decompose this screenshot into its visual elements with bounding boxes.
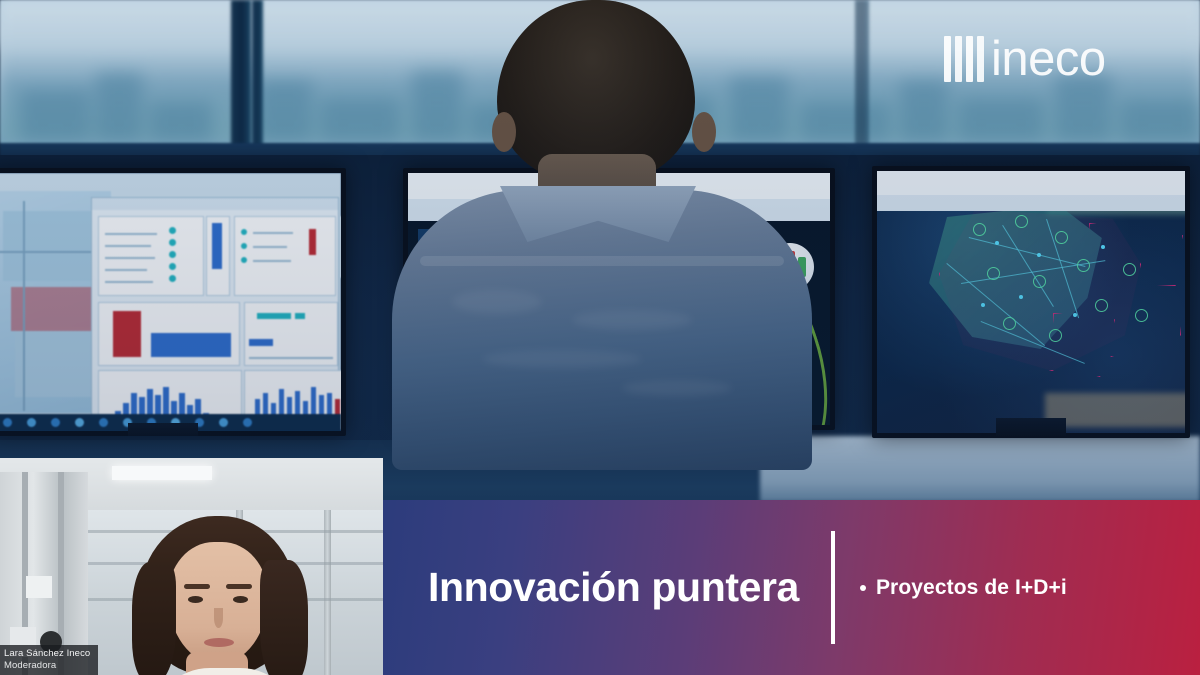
vertical-divider-icon xyxy=(831,531,835,644)
chart-card xyxy=(340,216,341,278)
ear-right xyxy=(692,112,716,152)
banner-title: Innovación puntera xyxy=(428,567,799,608)
monitor-right xyxy=(872,166,1190,438)
webcam-overlay[interactable]: Lara Sánchez Ineco Moderadora xyxy=(0,458,383,675)
participant-nameplate: Lara Sánchez Ineco Moderadora xyxy=(0,645,98,675)
chart-card xyxy=(234,216,336,296)
banner-subtitle-text: Proyectos de I+D+i xyxy=(876,576,1067,600)
monitor-left xyxy=(0,168,346,436)
monitor-left-screen xyxy=(0,173,341,431)
participant-portrait xyxy=(128,516,308,675)
desk-top-right xyxy=(760,436,1200,502)
hair-strand-left xyxy=(132,562,176,675)
eyebrow-right xyxy=(226,584,252,589)
shirt-collar xyxy=(500,186,696,242)
ineco-logo: ineco xyxy=(944,36,1106,82)
chart-card xyxy=(98,216,204,296)
window-titlebar xyxy=(92,198,338,210)
dashboard-window xyxy=(91,197,339,417)
ineco-wordmark: ineco xyxy=(991,36,1106,82)
nose xyxy=(214,608,223,628)
browser-titlebar xyxy=(877,171,1185,195)
video-frame: ineco xyxy=(0,0,1200,675)
chart-card xyxy=(244,302,338,366)
bullet-dot-icon xyxy=(860,585,866,591)
land-south xyxy=(1045,393,1185,427)
banner-subtitle-group: Proyectos de I+D+i xyxy=(860,576,1067,600)
ceiling-light xyxy=(112,466,212,480)
lower-third-banner: Innovación puntera Proyectos de I+D+i xyxy=(383,500,1200,675)
eye-right xyxy=(233,596,248,603)
eyebrow-left xyxy=(184,584,210,589)
browser-toolbar[interactable] xyxy=(877,195,1185,211)
chart-card xyxy=(98,302,240,366)
mouth xyxy=(204,638,234,647)
wall-note xyxy=(26,576,52,598)
shirt-yoke xyxy=(420,256,784,266)
analytics-dashboard xyxy=(0,173,341,431)
ineco-bars-icon xyxy=(944,36,984,82)
shirt xyxy=(392,190,812,470)
hair-strand-right xyxy=(260,560,308,675)
participant-name: Lara Sánchez Ineco xyxy=(4,648,90,660)
monitor-right-screen xyxy=(877,171,1185,433)
participant-role: Moderadora xyxy=(4,660,90,672)
airspace-map xyxy=(877,171,1185,433)
ear-left xyxy=(492,112,516,152)
operator-figure xyxy=(392,0,812,464)
eye-left xyxy=(188,596,203,603)
chart-card xyxy=(206,216,230,296)
